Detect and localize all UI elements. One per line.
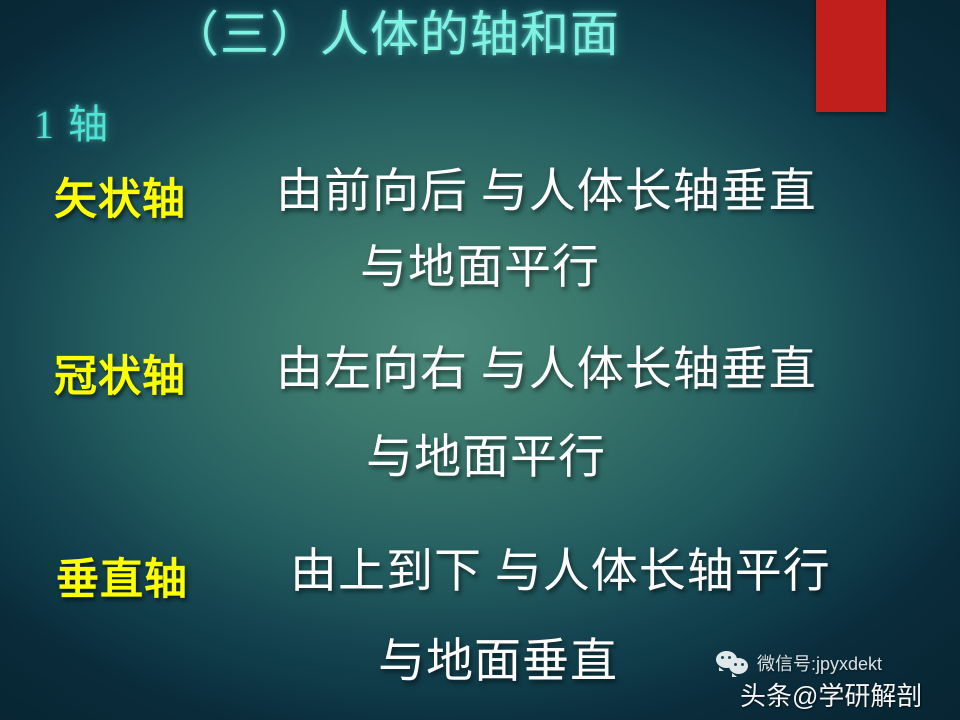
axis-description-vertical-line-1: 由上到下 与人体长轴平行: [290, 532, 831, 601]
axis-label-vertical: 垂直轴: [56, 545, 188, 607]
axis-label-coronal: 冠状轴: [54, 342, 186, 404]
decorative-red-block: [816, 0, 886, 112]
wechat-icon: [716, 650, 750, 676]
axis-description-coronal-line-1: 由左向右 与人体长轴垂直: [276, 330, 817, 399]
wechat-watermark: 微信号:jpyxdekt: [716, 650, 882, 676]
toutiao-watermark-text: 头条@学研解剖: [740, 676, 922, 713]
axis-label-sagittal: 矢状轴: [54, 165, 186, 227]
axis-description-vertical-line-2: 与地面垂直: [378, 622, 618, 691]
axis-description-coronal-line-2: 与地面平行: [366, 418, 606, 487]
wechat-watermark-text: 微信号:jpyxdekt: [757, 650, 882, 676]
section-number-heading: 1 轴: [34, 92, 110, 150]
axis-description-sagittal-line-2: 与地面平行: [360, 228, 600, 297]
slide-canvas: （三）人体的轴和面 1 轴 矢状轴 由前向后 与人体长轴垂直 与地面平行 冠状轴…: [0, 0, 960, 720]
slide-title: （三）人体的轴和面: [0, 6, 790, 64]
axis-description-sagittal-line-1: 由前向后 与人体长轴垂直: [276, 152, 817, 221]
